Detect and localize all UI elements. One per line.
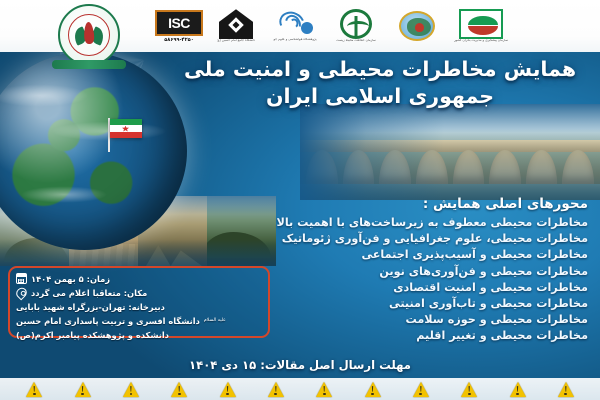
- hazard-warning-icon: [365, 382, 381, 397]
- event-date-text: زمان: ۵ بهمن ۱۴۰۴: [31, 274, 110, 284]
- secretariat-row-1: دبیرخانه: تهران-بزرگراه شهید بابایی: [16, 300, 260, 313]
- headline-line-1: همایش مخاطرات محیطی و امنیت ملی: [174, 56, 586, 83]
- conference-main-emblem: [46, 2, 132, 80]
- secretariat-line-2-superscript: علیه السلام: [204, 318, 226, 323]
- globe-crest-icon: [399, 11, 435, 41]
- logo-isc-logo: ISC ۵۸۶۹۹-۴۲۵۰: [150, 3, 208, 49]
- logo-environment-protection-logo: سازمان حفاظت محیط زیست: [326, 3, 386, 49]
- hazard-warning-icon: [75, 382, 91, 397]
- logo-crisis-management-logo: سازمان پیشگیری و مدیریت بحران کشور: [448, 3, 514, 49]
- logo-globe-crest-logo: [386, 3, 448, 49]
- secretariat-line-2: دانشگاه افسری و تربیت پاسداری امام حسین: [16, 316, 200, 326]
- isc-logo-caption: ۵۸۶۹۹-۴۲۵۰: [164, 37, 194, 43]
- hazard-warning-icon: [461, 382, 477, 397]
- crisis-logo-caption: سازمان پیشگیری و مدیریت بحران کشور: [454, 39, 508, 43]
- secretariat-line-1: دبیرخانه: تهران-بزرگراه شهید بابایی: [16, 302, 165, 312]
- hazard-warning-icon: [171, 382, 187, 397]
- emblem-ribbon: [52, 56, 126, 74]
- location-pin-icon: [14, 285, 29, 300]
- hazard-warning-strip: [0, 378, 600, 400]
- bridge-arches: [300, 150, 600, 184]
- secretariat-line-3: دانشکده و پژوهشکده پیامبر اکرم(ص): [16, 330, 169, 340]
- secretariat-row-2: علیه السلام دانشگاه افسری و تربیت پاسدار…: [16, 314, 260, 327]
- crisis-shield-icon: [459, 9, 503, 39]
- bridge-deck: [300, 140, 600, 152]
- hazard-warning-icon: [413, 382, 429, 397]
- hazard-warning-icon: [510, 382, 526, 397]
- hazard-warning-icon: [316, 382, 332, 397]
- conference-poster: ISC ۵۸۶۹۹-۴۲۵۰ دانشگاه جامع امام حسین (ع…: [0, 0, 600, 400]
- event-info-box: زمان: ۵ بهمن ۱۴۰۴ مکان: متعاقبا اعلام می…: [8, 266, 270, 338]
- hazard-warning-icon: [26, 382, 42, 397]
- list-item: مخاطرات محیطی معطوف به زیرساخت‌های با اه…: [172, 215, 592, 231]
- axes-heading: محورهای اصلی همایش :: [172, 196, 592, 212]
- list-item: مخاطرات محیطی، علوم جغرافیایی و فن‌آوری …: [172, 231, 592, 247]
- logo-swirl-research-logo: پژوهشگاه هواشناسی و علوم جو: [264, 3, 326, 49]
- environment-icon: [340, 9, 372, 39]
- swirl-icon: [275, 10, 315, 38]
- environment-logo-caption: سازمان حفاظت محیط زیست: [336, 39, 376, 43]
- isc-logo-text: ISC: [168, 15, 190, 31]
- secretariat-row-3: دانشکده و پژوهشکده پیامبر اکرم(ص): [16, 328, 260, 341]
- hazard-warning-icon: [268, 382, 284, 397]
- submission-deadline: مهلت ارسال اصل مقالات: ۱۵ دی ۱۴۰۴: [0, 358, 600, 372]
- isc-icon: ISC: [155, 10, 203, 36]
- hazard-warning-icon: [558, 382, 574, 397]
- bridge-photo: [300, 104, 600, 200]
- swirl-logo-caption: پژوهشگاه هواشناسی و علوم جو: [273, 38, 316, 42]
- event-date-row: زمان: ۵ بهمن ۱۴۰۴: [16, 272, 260, 285]
- hazard-warning-icon: [220, 382, 236, 397]
- logo-ihu-arch-logo: دانشگاه جامع امام حسین (ع): [208, 3, 264, 49]
- calendar-icon: [16, 273, 27, 284]
- headline-line-2: جمهوری اسلامی ایران: [174, 83, 586, 110]
- event-place-text: مکان: متعاقبا اعلام می گردد: [31, 288, 147, 298]
- list-item: مخاطرات محیطی و آسیب‌پذیری اجتماعی: [172, 247, 592, 263]
- page-title: همایش مخاطرات محیطی و امنیت ملی جمهوری ا…: [174, 56, 586, 110]
- arch-logo-caption: دانشگاه جامع امام حسین (ع): [217, 39, 256, 43]
- iran-flag-marker: [108, 118, 144, 152]
- arch-icon: [219, 9, 253, 39]
- event-place-row: مکان: متعاقبا اعلام می گردد: [16, 286, 260, 299]
- hazard-warning-icon: [123, 382, 139, 397]
